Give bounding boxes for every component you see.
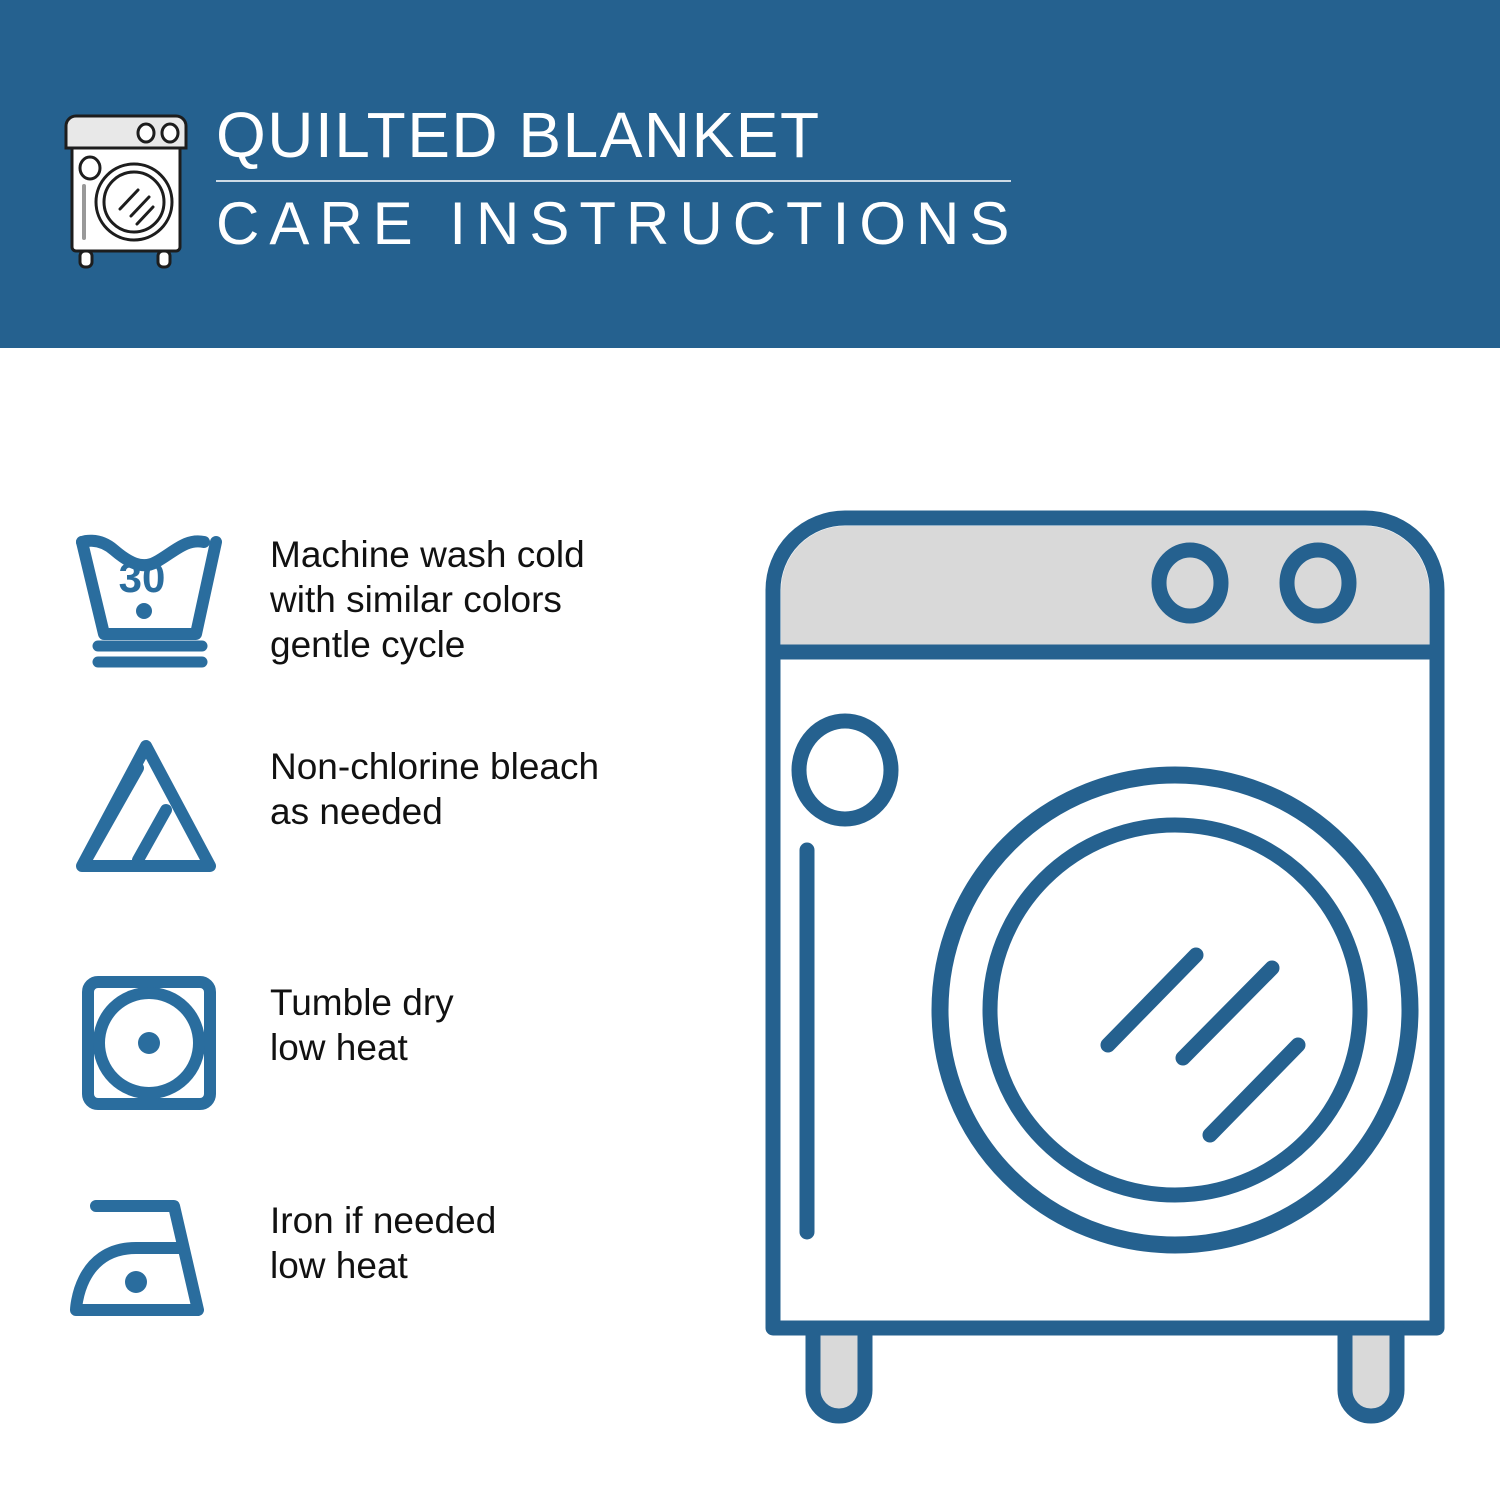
care-line: Machine wash cold [270,532,585,577]
care-line: Iron if needed [270,1198,496,1243]
care-row-iron: Iron if needed low heat [0,1186,740,1336]
care-line: Non-chlorine bleach [270,744,599,789]
foot-right [1345,1328,1397,1416]
wash-tub-30-icon: 30 [62,520,238,670]
care-instruction-list: 30 Machine wash cold with similar colors… [0,348,740,1500]
header-text-block: QUILTED BLANKET CARE INSTRUCTIONS [216,98,1026,260]
page-subtitle: CARE INSTRUCTIONS [216,188,1026,260]
care-instructions-page: QUILTED BLANKET CARE INSTRUCTIONS 30 [0,0,1500,1500]
care-line: gentle cycle [270,622,585,667]
care-row-bleach: Non-chlorine bleach as needed [0,732,740,882]
tumble-dry-icon [62,968,238,1118]
care-line: low heat [270,1025,454,1070]
care-row-machine-wash: 30 Machine wash cold with similar colors… [0,520,740,670]
title-divider [216,180,1011,182]
care-line: Tumble dry [270,980,454,1025]
dial-left [1159,550,1221,616]
wash-temperature-value: 30 [119,554,166,601]
care-text-tumble-dry: Tumble dry low heat [270,968,454,1070]
care-text-machine-wash: Machine wash cold with similar colors ge… [270,520,585,667]
care-line: with similar colors [270,577,585,622]
care-line: as needed [270,789,599,834]
care-line: low heat [270,1243,496,1288]
foot-left [813,1328,865,1416]
care-row-tumble-dry: Tumble dry low heat [0,968,740,1118]
dial-right [1287,550,1349,616]
care-text-bleach: Non-chlorine bleach as needed [270,732,599,834]
page-header: QUILTED BLANKET CARE INSTRUCTIONS [0,0,1500,348]
bleach-triangle-icon [62,732,238,882]
small-knob [799,721,891,819]
page-title: QUILTED BLANKET [216,98,1026,172]
drum-door-inner-ring [990,825,1360,1195]
iron-icon [62,1186,238,1336]
care-text-iron: Iron if needed low heat [270,1186,496,1288]
washing-machine-logo-icon [58,106,194,271]
washing-machine-illustration [735,480,1475,1440]
